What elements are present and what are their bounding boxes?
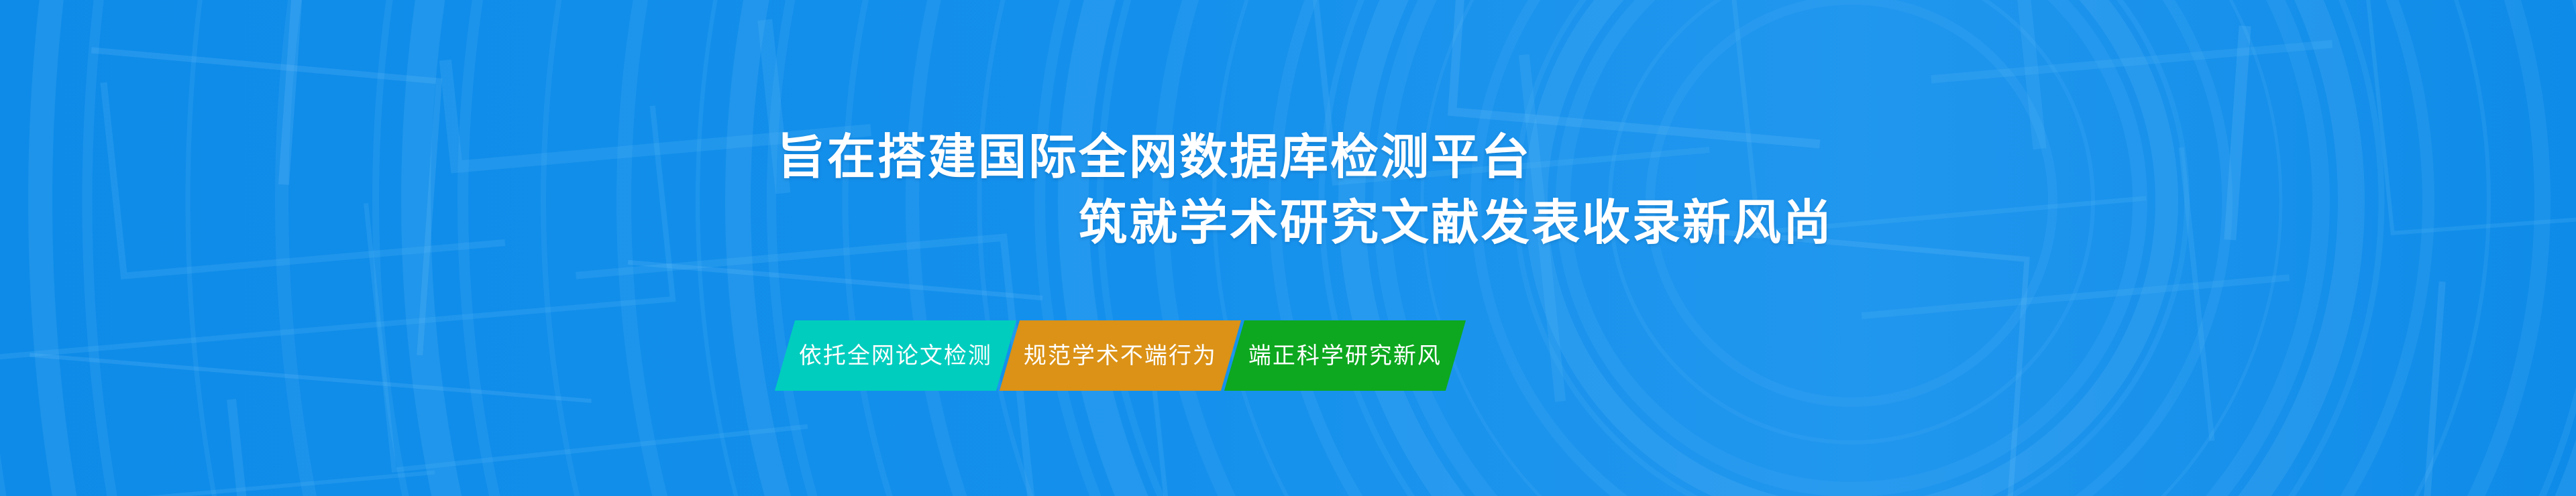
headline-line-2: 筑就学术研究文献发表收录新风尚: [1079, 190, 2576, 256]
feature-tag-label: 依托全网论文检测: [799, 345, 992, 367]
feature-tag-plagiarism-check[interactable]: 依托全网论文检测: [775, 320, 1016, 391]
headline-line-1: 旨在搭建国际全网数据库检测平台: [777, 125, 2576, 190]
feature-tag-research-integrity[interactable]: 端正科学研究新风: [1224, 320, 1466, 391]
feature-tag-label: 端正科学研究新风: [1248, 345, 1442, 367]
headline-block: 旨在搭建国际全网数据库检测平台 筑就学术研究文献发表收录新风尚: [0, 125, 2576, 256]
feature-tag-label: 规范学术不端行为: [1024, 345, 1217, 367]
promo-banner: 旨在搭建国际全网数据库检测平台 筑就学术研究文献发表收录新风尚 依托全网论文检测…: [0, 0, 2576, 496]
feature-tag-strip: 依托全网论文检测 规范学术不端行为 端正科学研究新风: [785, 320, 1456, 391]
feature-tag-misconduct-regulation[interactable]: 规范学术不端行为: [1000, 320, 1241, 391]
